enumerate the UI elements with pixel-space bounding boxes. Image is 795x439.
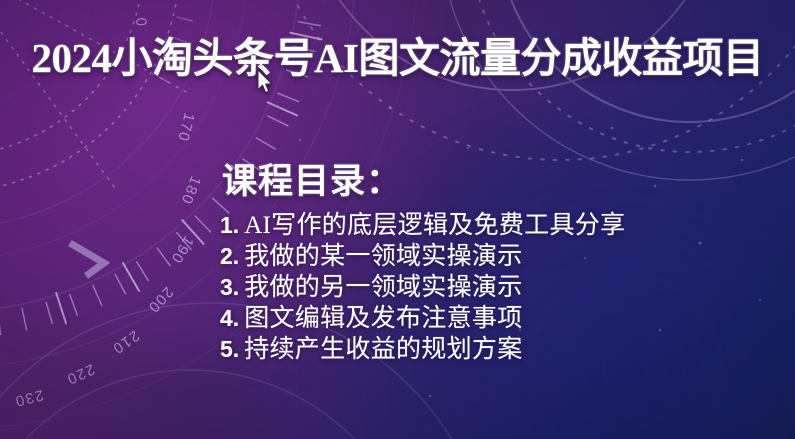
outline-item-label: AI写作的底层逻辑及免费工具分享 [244,211,625,241]
outline-item-label: 持续产生收益的规划方案 [244,335,522,365]
outline-item-number: 1. [220,210,239,240]
outline-item-number: 2. [220,241,239,271]
course-banner: 170 180 190 200 210 220 230 0 [0,0,795,439]
outline-item: 3.我做的另一领域实操演示 [220,272,740,303]
outline-heading: 课程目录： [222,160,740,204]
outline-item: 1.AI写作的底层逻辑及免费工具分享 [220,210,740,241]
outline-item-number: 3. [220,272,239,302]
outline-item: 2.我做的某一领域实操演示 [220,241,740,272]
course-outline: 课程目录： 1.AI写作的底层逻辑及免费工具分享2.我做的某一领域实操演示3.我… [220,160,740,365]
outline-item-number: 4. [220,303,239,333]
outline-item-label: 图文编辑及发布注意事项 [244,304,522,334]
outline-item-label: 我做的某一领域实操演示 [244,242,522,272]
banner-title: 2024小淘头条号AI图文流量分成收益项目 [0,36,795,80]
outline-item-label: 我做的另一领域实操演示 [244,273,522,303]
outline-item-number: 5. [220,334,239,364]
outline-list: 1.AI写作的底层逻辑及免费工具分享2.我做的某一领域实操演示3.我做的另一领域… [220,210,740,365]
outline-item: 4.图文编辑及发布注意事项 [220,303,740,334]
outline-item: 5.持续产生收益的规划方案 [220,334,740,365]
